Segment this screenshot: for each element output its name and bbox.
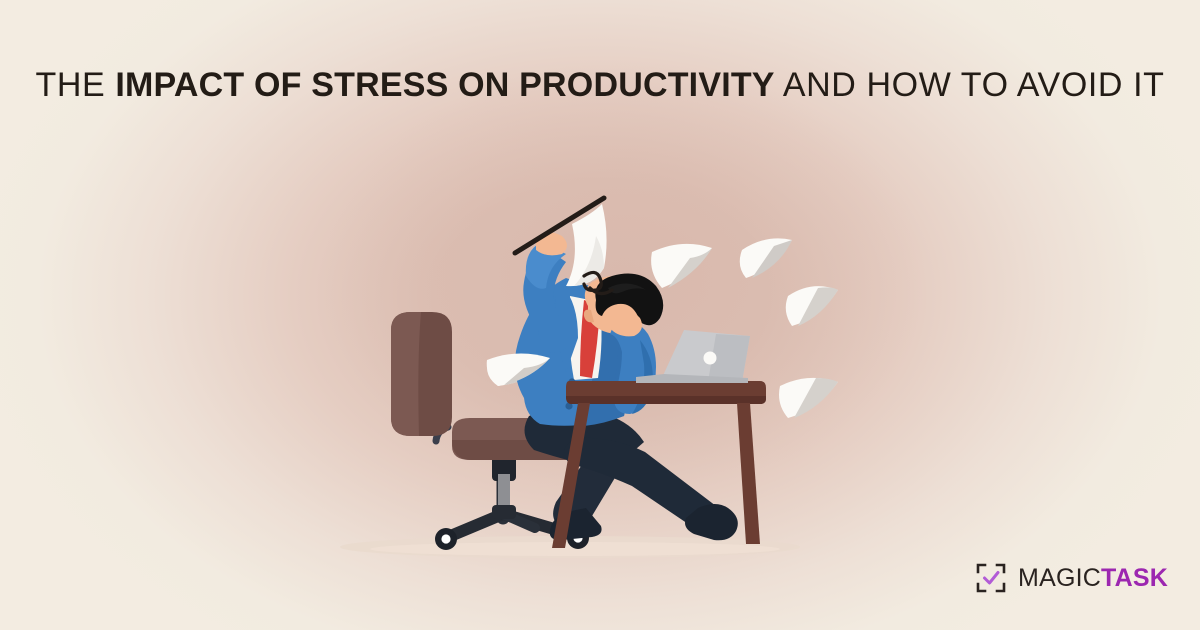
desk-leg-right — [737, 403, 760, 544]
checkbox-brackets-icon — [975, 562, 1007, 594]
laptop-logo-icon — [704, 352, 717, 365]
brand-name-primary: MAGIC — [1018, 564, 1101, 592]
hero-banner: THE IMPACT OF STRESS ON PRODUCTIVITY AND… — [0, 0, 1200, 630]
page-title: THE IMPACT OF STRESS ON PRODUCTIVITY AND… — [35, 67, 1164, 104]
brand-name-secondary: TASK — [1101, 564, 1168, 592]
flying-paper-4 — [779, 378, 838, 418]
flying-paper-2 — [740, 238, 792, 278]
desk-top-shade — [566, 396, 766, 404]
title-lead: THE — [35, 66, 115, 104]
title-trail: AND HOW TO AVOID IT — [775, 66, 1165, 104]
title-container: THE IMPACT OF STRESS ON PRODUCTIVITY AND… — [0, 44, 1200, 127]
flying-paper-3 — [786, 286, 838, 326]
chair-backrest — [391, 312, 452, 436]
title-emphasis: IMPACT OF STRESS ON PRODUCTIVITY — [115, 66, 774, 104]
flying-paper-1 — [651, 244, 712, 288]
brand-wordmark: MAGICTASK — [1018, 566, 1168, 591]
brand-logo[interactable]: MAGICTASK — [975, 562, 1168, 594]
